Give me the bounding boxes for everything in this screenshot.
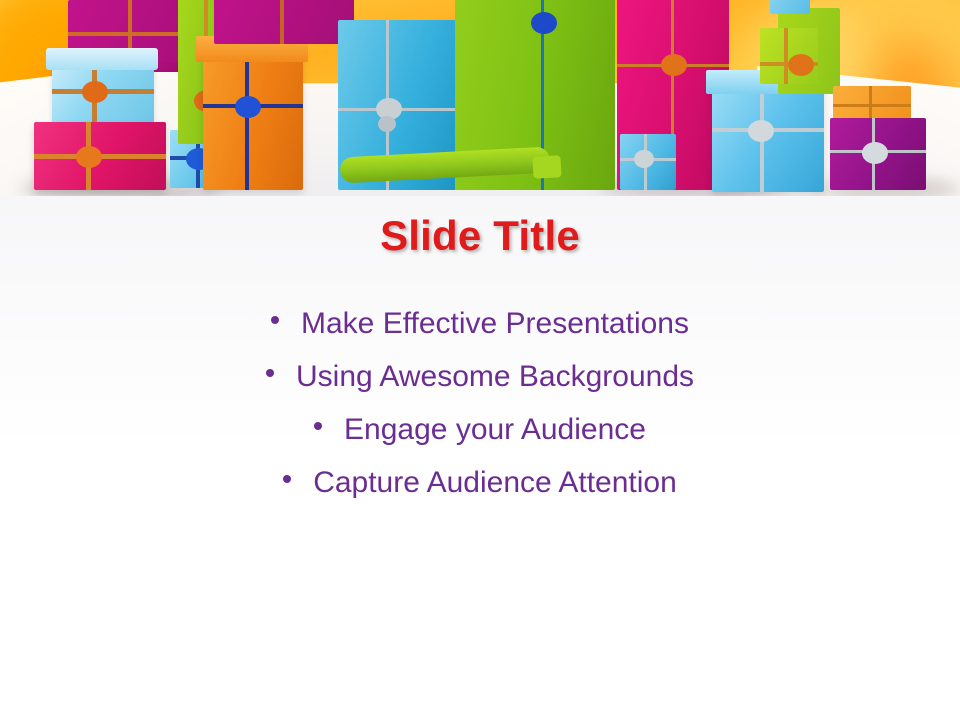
list-item-label: Using Awesome Backgrounds	[296, 351, 694, 403]
gift-box-orange	[203, 42, 303, 190]
list-item: Make Effective Presentations	[0, 297, 960, 350]
gift-boxes-photo	[0, 0, 960, 196]
slide: Slide Title Make Effective Presentations…	[0, 0, 960, 720]
gift-box-lightblue-lid	[46, 48, 158, 70]
gift-tube-end	[532, 155, 561, 178]
list-item-label: Make Effective Presentations	[301, 298, 689, 350]
list-item-label: Capture Audience Attention	[313, 457, 677, 509]
gift-box-purple-right	[830, 118, 926, 190]
gift-box-blue-top-right	[770, 0, 810, 14]
gift-box-blue-bottom	[620, 134, 676, 190]
gift-box-pink	[34, 122, 166, 190]
gift-box-lightblue-large	[712, 78, 824, 192]
list-item-label: Engage your Audience	[344, 404, 646, 456]
bullet-dot-icon	[283, 475, 291, 483]
gift-box-magenta-mid	[214, 0, 354, 44]
bullet-dot-icon	[314, 422, 322, 430]
bullet-list: Make Effective Presentations Using Aweso…	[0, 297, 960, 509]
list-item: Using Awesome Backgrounds	[0, 350, 960, 403]
list-item: Capture Audience Attention	[0, 456, 960, 509]
page-title: Slide Title	[0, 212, 960, 260]
list-item: Engage your Audience	[0, 403, 960, 456]
bullet-dot-icon	[271, 316, 279, 324]
bullet-dot-icon	[266, 369, 274, 377]
gift-box-lime-right	[760, 28, 818, 84]
